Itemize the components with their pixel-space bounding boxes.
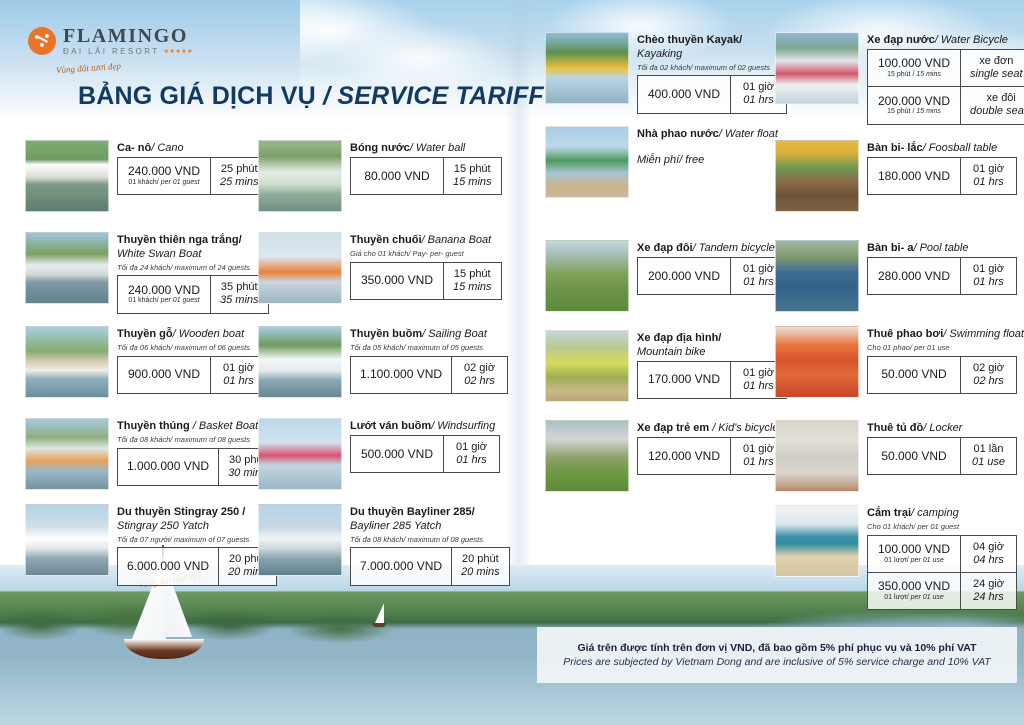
service-item-title-en: / Locker xyxy=(923,422,962,434)
service-item-stingray-250-yacht: Du thuyền Stingray 250 /Stingray 250 Yat… xyxy=(25,504,277,586)
price-per-unit-vn: 15 phút / xyxy=(887,108,914,115)
pool-table-photo xyxy=(775,240,859,312)
service-item-title-vn: Xe đạp nước xyxy=(867,34,935,46)
service-item-title-en: / Sailing Boat xyxy=(422,328,487,340)
service-item-body: Du thuyền Bayliner 285/Bayliner 285 Yatc… xyxy=(350,504,510,586)
price-table: 200.000 VND01 giờ01 hrs xyxy=(637,257,787,295)
price-per-unit-en: 15 mins xyxy=(916,71,941,78)
service-item-title-en: Bayliner 285 Yatch xyxy=(350,520,441,532)
price-per-unit: 01 khách/ per 01 guest xyxy=(127,297,201,306)
price-duration-en: 01 use xyxy=(970,456,1007,469)
service-item-body: Thuyền gỗ/ Wooden boatTối đa 06 khách/ m… xyxy=(117,326,267,394)
price-row: 100.000 VND01 lượt/ per 01 use04 giờ04 h… xyxy=(868,536,1016,572)
service-item-body: Thuyền thiên nga trắng/White Swan BoatTố… xyxy=(117,232,269,314)
service-item-title-vn: Thuê tủ đồ xyxy=(867,422,923,434)
service-item-title-en: / Cano xyxy=(151,142,183,154)
price-per-unit: 01 lượt/ per 01 use xyxy=(877,557,951,566)
windsurfing-photo xyxy=(258,418,342,490)
price-duration-vn: 15 phút xyxy=(453,163,492,176)
price-row: 7.000.000 VND20 phút20 mins xyxy=(351,548,509,584)
service-item-title-en: / Basket Boat xyxy=(190,420,258,432)
banana-boat-photo xyxy=(258,232,342,304)
service-item-title-vn: Chèo thuyền Kayak/ xyxy=(637,34,742,46)
price-duration-en: 35 mins xyxy=(220,294,259,307)
price-amount-cell: 1.100.000 VND xyxy=(351,357,451,393)
service-item-title-en: / Wooden boat xyxy=(173,328,245,340)
service-item-foosball-table: Bàn bi- lắc/ Foosball table180.000 VND01… xyxy=(775,140,1017,212)
service-item-title: Chèo thuyền Kayak/Kayaking xyxy=(637,34,787,62)
service-item-camping: Cắm trại/ campingCho 01 khách/ per 01 gu… xyxy=(775,505,1017,610)
service-item-title-vn: Lướt ván buồm xyxy=(350,420,431,432)
service-item-title-vn: Thuyền gỗ xyxy=(117,328,173,340)
service-item-note: Giá cho 01 khách/ Pay- per- guest xyxy=(350,249,502,259)
price-table: 180.000 VND01 giờ01 hrs xyxy=(867,157,1017,195)
service-item-body: Xe đạp trẻ em / Kid's bicycle120.000 VND… xyxy=(637,420,787,475)
price-table: 100.000 VND15 phút / 15 minsxe đơnsingle… xyxy=(867,49,1024,125)
price-amount: 50.000 VND xyxy=(877,367,951,381)
price-amount-cell: 500.000 VND xyxy=(351,436,443,472)
service-item-title-en: / Windsurfing xyxy=(431,420,495,432)
price-table: 1.100.000 VND02 giờ02 hrs xyxy=(350,356,508,394)
price-table: 500.000 VND01 giờ01 hrs xyxy=(350,435,500,473)
price-duration-vn: 20 phút xyxy=(461,553,500,566)
service-item-title: Xe đạp trẻ em / Kid's bicycle xyxy=(637,422,787,436)
price-row: 120.000 VND01 giờ01 hrs xyxy=(638,438,786,474)
service-item-title-vn: Xe đạp địa hình/ xyxy=(637,332,721,344)
price-amount-cell: 6.000.000 VND xyxy=(118,548,218,584)
service-item-title-en: / Banana Boat xyxy=(422,234,492,246)
service-item-body: Du thuyền Stingray 250 /Stingray 250 Yat… xyxy=(117,504,277,586)
swan-boat-photo xyxy=(25,232,109,304)
service-item-title-en: / Water ball xyxy=(410,142,465,154)
price-row: 200.000 VND01 giờ01 hrs xyxy=(638,258,786,294)
price-row: 350.000 VND01 lượt/ per 01 use24 giờ24 h… xyxy=(868,572,1016,609)
price-row: 170.000 VND01 giờ01 hrs xyxy=(638,362,786,398)
price-per-unit-en: per 01 guest xyxy=(161,297,200,304)
service-item-title: Xe đạp đôi/ Tandem bicycle xyxy=(637,242,787,256)
service-item-note: Tối đa 07 người/ maximum of 07 guests xyxy=(117,535,277,545)
price-duration-cell: 15 phút15 mins xyxy=(443,158,501,194)
price-table: 1.000.000 VND30 phút30 mins xyxy=(117,448,277,486)
price-duration-vn: 01 lần xyxy=(970,443,1007,456)
price-duration-en: 01 hrs xyxy=(970,276,1007,289)
price-table: 350.000 VND15 phút15 mins xyxy=(350,262,502,300)
price-amount: 200.000 VND xyxy=(647,269,721,283)
service-item-title-vn: Bóng nước xyxy=(350,142,410,154)
service-item-note: Cho 01 phao/ per 01 use xyxy=(867,343,1024,353)
price-duration-en: 01 hrs xyxy=(740,94,777,107)
price-duration-en: 02 hrs xyxy=(461,375,498,388)
service-item-title-vn: Cắm trại xyxy=(867,507,911,519)
price-table: 7.000.000 VND20 phút20 mins xyxy=(350,547,510,585)
price-per-unit-en: per 01 guest xyxy=(161,179,200,186)
service-item-body: Xe đạp nước/ Water Bicycle100.000 VND15 … xyxy=(867,32,1024,125)
price-amount-cell: 100.000 VND01 lượt/ per 01 use xyxy=(868,536,960,572)
price-row: 240.000 VND01 khách/ per 01 guest25 phút… xyxy=(118,158,268,194)
price-duration-en: 01 hrs xyxy=(740,456,777,469)
price-duration-en: double seats xyxy=(970,105,1024,118)
price-amount: 500.000 VND xyxy=(360,447,434,461)
water-bicycle-photo xyxy=(775,32,859,104)
price-duration-vn: 01 giờ xyxy=(970,263,1007,276)
service-item-water-ball: Bóng nước/ Water ball80.000 VND15 phút15… xyxy=(258,140,502,212)
price-amount: 100.000 VND xyxy=(877,542,951,556)
distant-hull xyxy=(372,623,386,627)
price-row: 1.000.000 VND30 phút30 mins xyxy=(118,449,276,485)
price-per-unit: 15 phút / 15 mins xyxy=(877,108,951,117)
price-disclaimer: Giá trên được tính trên đơn vị VND, đã b… xyxy=(537,627,1017,683)
price-duration-en: 15 mins xyxy=(453,176,492,189)
price-amount-cell: 240.000 VND01 khách/ per 01 guest xyxy=(118,158,210,194)
price-amount-cell: 7.000.000 VND xyxy=(351,548,451,584)
service-item-body: Bóng nước/ Water ball80.000 VND15 phút15… xyxy=(350,140,502,195)
price-amount: 1.000.000 VND xyxy=(127,459,209,473)
price-duration-vn: 04 giờ xyxy=(970,541,1007,554)
service-item-title: Bàn bi- a/ Pool table xyxy=(867,242,1017,256)
service-item-basket-boat: Thuyền thúng / Basket BoatTối đa 08 khác… xyxy=(25,418,277,490)
camping-photo xyxy=(775,505,859,577)
price-amount-cell: 400.000 VND xyxy=(638,76,730,112)
brand-subtitle: ĐẠI LẢI RESORT xyxy=(63,48,160,56)
price-amount-cell: 80.000 VND xyxy=(351,158,443,194)
price-duration-vn: 15 phút xyxy=(453,268,492,281)
price-duration-cell: 04 giờ04 hrs xyxy=(960,536,1016,572)
price-per-unit-en: 15 mins xyxy=(916,108,941,115)
price-table: 80.000 VND15 phút15 mins xyxy=(350,157,502,195)
service-item-title-en: / camping xyxy=(911,507,959,519)
service-item-title: Du thuyền Stingray 250 /Stingray 250 Yat… xyxy=(117,506,267,534)
service-item-title-en: White Swan Boat xyxy=(117,248,201,260)
service-item-title-en: / Swimming float xyxy=(943,328,1024,340)
service-item-title-en: / Tandem bicycle xyxy=(693,242,775,254)
price-amount: 170.000 VND xyxy=(647,372,721,386)
sailboat-distant-illustration xyxy=(372,603,386,629)
price-duration-cell: 24 giờ24 hrs xyxy=(960,573,1016,609)
service-item-body: Nhà phao nước/ Water floatMiễn phí/ free xyxy=(637,126,778,166)
service-item-title-vn: Xe đạp trẻ em xyxy=(637,422,709,434)
speedboat-photo xyxy=(25,140,109,212)
service-item-title: Thuyền gỗ/ Wooden boat xyxy=(117,328,267,342)
service-item-title: Cắm trại/ camping xyxy=(867,507,1017,521)
service-item-free-label: Miễn phí/ free xyxy=(637,154,778,166)
price-amount-cell: 350.000 VND01 lượt/ per 01 use xyxy=(868,573,960,609)
price-duration-vn: 01 giờ xyxy=(220,362,257,375)
service-item-kids-bicycle: Xe đạp trẻ em / Kid's bicycle120.000 VND… xyxy=(545,420,787,492)
wooden-boat-photo xyxy=(25,326,109,398)
sailboat-hull xyxy=(124,639,204,659)
price-row: 280.000 VND01 giờ01 hrs xyxy=(868,258,1016,294)
foosball-table-photo xyxy=(775,140,859,212)
price-duration-en: 20 mins xyxy=(461,566,500,579)
service-item-body: Thuê phao bơi/ Swimming floatCho 01 phao… xyxy=(867,326,1024,394)
service-item-mountain-bike: Xe đạp địa hình/Mountain bike170.000 VND… xyxy=(545,330,787,402)
service-item-title-vn: Xe đạp đôi xyxy=(637,242,693,254)
price-amount-cell: 180.000 VND xyxy=(868,158,960,194)
price-duration-vn: 35 phút xyxy=(220,281,259,294)
service-item-body: Thuê tủ đồ/ Locker50.000 VND01 lần01 use xyxy=(867,420,1017,475)
price-row: 50.000 VND02 giờ02 hrs xyxy=(868,357,1016,393)
service-item-title-en: / Pool table xyxy=(913,242,968,254)
service-item-locker: Thuê tủ đồ/ Locker50.000 VND01 lần01 use xyxy=(775,420,1017,492)
price-duration-vn: 01 giờ xyxy=(740,81,777,94)
price-duration-en: single seat xyxy=(970,68,1023,81)
service-item-water-float: Nhà phao nước/ Water floatMiễn phí/ free xyxy=(545,126,778,198)
price-duration-cell: 01 lần01 use xyxy=(960,438,1016,474)
price-per-unit-vn: 01 lượt/ xyxy=(884,557,908,564)
service-item-title: Nhà phao nước/ Water float xyxy=(637,128,778,142)
swimming-float-photo xyxy=(775,326,859,398)
mountain-bike-photo xyxy=(545,330,629,402)
service-item-title-vn: Thuyền chuối xyxy=(350,234,422,246)
price-duration-en: 01 hrs xyxy=(740,380,777,393)
service-item-body: Chèo thuyền Kayak/KayakingTối đa 02 khác… xyxy=(637,32,787,114)
price-row: 50.000 VND01 lần01 use xyxy=(868,438,1016,474)
price-amount-cell: 120.000 VND xyxy=(638,438,730,474)
price-table: 120.000 VND01 giờ01 hrs xyxy=(637,437,787,475)
service-item-water-bicycle: Xe đạp nước/ Water Bicycle100.000 VND15 … xyxy=(775,32,1024,125)
price-amount-cell: 100.000 VND15 phút / 15 mins xyxy=(868,50,960,86)
price-table: 50.000 VND02 giờ02 hrs xyxy=(867,356,1017,394)
price-table: 240.000 VND01 khách/ per 01 guest25 phút… xyxy=(117,157,269,195)
price-amount: 80.000 VND xyxy=(360,169,434,183)
price-amount-cell: 50.000 VND xyxy=(868,357,960,393)
price-row: 500.000 VND01 giờ01 hrs xyxy=(351,436,499,472)
price-amount-cell: 280.000 VND xyxy=(868,258,960,294)
five-stars-icon: ★★★★★ xyxy=(164,49,193,55)
service-item-note: Cho 01 khách/ per 01 guest xyxy=(867,522,1017,532)
sailing-boat-photo xyxy=(258,326,342,398)
service-item-sailing-boat: Thuyền buồm/ Sailing BoatTối đa 05 khách… xyxy=(258,326,508,398)
price-row: 1.100.000 VND02 giờ02 hrs xyxy=(351,357,507,393)
brand-logo: FLAMINGO ĐẠI LẢI RESORT ★★★★★ xyxy=(28,26,193,56)
price-amount: 50.000 VND xyxy=(877,449,951,463)
price-amount: 7.000.000 VND xyxy=(360,559,442,573)
price-per-unit: 01 lượt/ per 01 use xyxy=(877,594,951,603)
service-item-banana-boat: Thuyền chuối/ Banana BoatGiá cho 01 khác… xyxy=(258,232,502,304)
price-per-unit: 01 khách/ per 01 guest xyxy=(127,179,201,188)
service-item-title-en: / Water Bicycle xyxy=(935,34,1008,46)
service-item-body: Ca- nô/ Cano240.000 VND01 khách/ per 01 … xyxy=(117,140,269,195)
price-row: 6.000.000 VND20 phút20 mins xyxy=(118,548,276,584)
price-amount-cell: 900.000 VND xyxy=(118,357,210,393)
price-duration-vn: 01 giờ xyxy=(740,263,777,276)
service-item-body: Xe đạp địa hình/Mountain bike170.000 VND… xyxy=(637,330,787,399)
price-duration-cell: xe đôidouble seats xyxy=(960,87,1024,123)
price-table: 240.000 VND01 khách/ per 01 guest35 phút… xyxy=(117,275,269,313)
price-duration-cell: 15 phút15 mins xyxy=(443,263,501,299)
service-item-title-vn: Du thuyền Bayliner 285/ xyxy=(350,506,475,518)
price-per-unit-vn: 01 khách/ xyxy=(128,297,158,304)
price-duration-en: 25 mins xyxy=(220,176,259,189)
price-amount: 400.000 VND xyxy=(647,87,721,101)
price-duration-en: 01 hrs xyxy=(220,375,257,388)
service-item-title-vn: Thuyền thúng xyxy=(117,420,190,432)
service-item-title: Thuyền chuối/ Banana Boat xyxy=(350,234,502,248)
price-duration-en: 24 hrs xyxy=(970,591,1007,604)
service-item-title: Bàn bi- lắc/ Foosball table xyxy=(867,142,1017,156)
service-item-body: Bàn bi- a/ Pool table280.000 VND01 giờ01… xyxy=(867,240,1017,295)
service-item-title: Thuyền thúng / Basket Boat xyxy=(117,420,277,434)
service-item-note: Tối đa 06 khách/ maximum of 06 guests xyxy=(117,343,267,353)
price-duration-cell: 02 giờ02 hrs xyxy=(960,357,1016,393)
service-item-title: Ca- nô/ Cano xyxy=(117,142,269,156)
basket-boat-photo xyxy=(25,418,109,490)
price-duration-en: 02 hrs xyxy=(970,375,1007,388)
price-row: 400.000 VND01 giờ01 hrs xyxy=(638,76,786,112)
service-item-cano: Ca- nô/ Cano240.000 VND01 khách/ per 01 … xyxy=(25,140,269,212)
price-amount-cell: 240.000 VND01 khách/ per 01 guest xyxy=(118,276,210,312)
service-item-title: Lướt ván buồm/ Windsurfing xyxy=(350,420,500,434)
service-item-title: Thuê tủ đồ/ Locker xyxy=(867,422,1017,436)
price-amount: 350.000 VND xyxy=(360,273,434,287)
service-item-title: Thuê phao bơi/ Swimming float xyxy=(867,328,1024,342)
price-duration-vn: 02 giờ xyxy=(970,362,1007,375)
price-duration-en: 01 hrs xyxy=(740,276,777,289)
service-item-title-en: / Foosball table xyxy=(923,142,998,154)
service-item-title-vn: Bàn bi- lắc xyxy=(867,142,923,154)
service-item-note: Tối đa 02 khách/ maximum of 02 guests xyxy=(637,63,787,73)
price-amount: 6.000.000 VND xyxy=(127,559,209,573)
disclaimer-vn: Giá trên được tính trên đơn vị VND, đã b… xyxy=(577,642,976,654)
price-amount: 900.000 VND xyxy=(127,367,201,381)
price-table: 100.000 VND01 lượt/ per 01 use04 giờ04 h… xyxy=(867,535,1017,611)
price-per-unit-en: per 01 use xyxy=(911,594,944,601)
price-duration-cell: 02 giờ02 hrs xyxy=(451,357,507,393)
distant-sail xyxy=(375,603,384,623)
price-duration-cell: xe đơnsingle seat xyxy=(960,50,1024,86)
price-duration-cell: 20 phút20 mins xyxy=(451,548,509,584)
yacht-photo xyxy=(25,504,109,576)
water-ball-photo xyxy=(258,140,342,212)
price-duration-vn: xe đơn xyxy=(970,55,1023,68)
service-item-bayliner-285-yacht: Du thuyền Bayliner 285/Bayliner 285 Yatc… xyxy=(258,504,510,586)
service-item-note: Tối đa 08 khách/ maximum of 08 guests xyxy=(350,535,510,545)
price-amount-cell: 170.000 VND xyxy=(638,362,730,398)
price-per-unit: 15 phút / 15 mins xyxy=(877,71,951,80)
page-title: BẢNG GIÁ DỊCH VỤ / SERVICE TARIFF xyxy=(78,82,544,111)
service-item-body: Thuyền buồm/ Sailing BoatTối đa 05 khách… xyxy=(350,326,508,394)
service-item-body: Xe đạp đôi/ Tandem bicycle200.000 VND01 … xyxy=(637,240,787,295)
page-title-vn: BẢNG GIÁ DỊCH VỤ xyxy=(78,82,316,110)
service-item-wooden-boat: Thuyền gỗ/ Wooden boatTối đa 06 khách/ m… xyxy=(25,326,267,398)
service-item-kayaking: Chèo thuyền Kayak/KayakingTối đa 02 khác… xyxy=(545,32,787,114)
service-item-title: Xe đạp địa hình/Mountain bike xyxy=(637,332,787,360)
price-amount: 200.000 VND xyxy=(877,94,951,108)
price-duration-vn: 01 giờ xyxy=(970,163,1007,176)
kayak-photo xyxy=(545,32,629,104)
service-item-windsurfing: Lướt ván buồm/ Windsurfing500.000 VND01 … xyxy=(258,418,500,490)
price-duration-en: 15 mins xyxy=(453,281,492,294)
water-float-photo xyxy=(545,126,629,198)
service-item-title-vn: Thuê phao bơi xyxy=(867,328,943,340)
price-row: 80.000 VND15 phút15 mins xyxy=(351,158,501,194)
price-amount-cell: 350.000 VND xyxy=(351,263,443,299)
price-duration-en: 01 hrs xyxy=(970,176,1007,189)
price-table: 170.000 VND01 giờ01 hrs xyxy=(637,361,787,399)
service-item-tandem-bicycle: Xe đạp đôi/ Tandem bicycle200.000 VND01 … xyxy=(545,240,787,312)
service-item-body: Cắm trại/ campingCho 01 khách/ per 01 gu… xyxy=(867,505,1017,610)
service-item-note: Tối đa 05 khách/ maximum of 05 guests xyxy=(350,343,508,353)
price-amount-cell: 200.000 VND15 phút / 15 mins xyxy=(868,87,960,123)
price-row: 900.000 VND01 giờ01 hrs xyxy=(118,357,266,393)
price-amount: 350.000 VND xyxy=(877,579,951,593)
price-per-unit-en: per 01 use xyxy=(911,557,944,564)
service-item-pool-table: Bàn bi- a/ Pool table280.000 VND01 giờ01… xyxy=(775,240,1017,312)
price-table: 6.000.000 VND20 phút20 mins xyxy=(117,547,277,585)
service-item-title-en: Stingray 250 Yatch xyxy=(117,520,209,532)
price-row: 240.000 VND01 khách/ per 01 guest35 phút… xyxy=(118,276,268,312)
price-duration-en: 04 hrs xyxy=(970,554,1007,567)
brand-subtitle-row: ĐẠI LẢI RESORT ★★★★★ xyxy=(63,48,193,56)
service-item-title-en: / Kid's bicycle xyxy=(709,422,778,434)
page-title-en: / SERVICE TARIFF xyxy=(323,82,544,110)
service-item-title: Xe đạp nước/ Water Bicycle xyxy=(867,34,1024,48)
service-item-title-en: Kayaking xyxy=(637,48,682,60)
service-item-white-swan-boat: Thuyền thiên nga trắng/White Swan BoatTố… xyxy=(25,232,269,314)
price-amount: 1.100.000 VND xyxy=(360,367,442,381)
price-duration-vn: 24 giờ xyxy=(970,578,1007,591)
price-amount-cell: 1.000.000 VND xyxy=(118,449,218,485)
price-amount: 180.000 VND xyxy=(877,169,951,183)
price-duration-vn: xe đôi xyxy=(970,92,1024,105)
price-table: 280.000 VND01 giờ01 hrs xyxy=(867,257,1017,295)
service-item-title-vn: Ca- nô xyxy=(117,142,151,154)
price-amount: 120.000 VND xyxy=(647,449,721,463)
price-duration-vn: 25 phút xyxy=(220,163,259,176)
price-table: 900.000 VND01 giờ01 hrs xyxy=(117,356,267,394)
price-amount: 240.000 VND xyxy=(127,283,201,297)
price-amount-cell: 200.000 VND xyxy=(638,258,730,294)
service-item-title-en: Mountain bike xyxy=(637,346,706,358)
service-item-title-vn: Nhà phao nước xyxy=(637,128,719,140)
price-row: 180.000 VND01 giờ01 hrs xyxy=(868,158,1016,194)
service-item-note: Tối đa 08 khách/ maximum of 08 guests xyxy=(117,435,277,445)
price-duration-cell: 01 giờ01 hrs xyxy=(960,158,1016,194)
price-duration-cell: 01 giờ01 hrs xyxy=(960,258,1016,294)
price-amount: 100.000 VND xyxy=(877,56,951,70)
service-item-note: Tối đa 24 khách/ maximum of 24 guests xyxy=(117,263,269,273)
price-table: 400.000 VND01 giờ01 hrs xyxy=(637,75,787,113)
price-amount-cell: 50.000 VND xyxy=(868,438,960,474)
price-row: 200.000 VND15 phút / 15 minsxe đôidouble… xyxy=(868,86,1024,123)
service-item-title-en: / Water float xyxy=(719,128,778,140)
disclaimer-en: Prices are subjected by Vietnam Dong and… xyxy=(563,656,990,668)
price-row: 100.000 VND15 phút / 15 minsxe đơnsingle… xyxy=(868,50,1024,86)
price-table: 50.000 VND01 lần01 use xyxy=(867,437,1017,475)
kids-bicycle-photo xyxy=(545,420,629,492)
price-per-unit-vn: 15 phút / xyxy=(887,71,914,78)
price-duration-vn: 01 giờ xyxy=(740,367,777,380)
tariff-page: Vùng đất tươi đẹp FLAMINGO ĐẠI LẢI RESOR… xyxy=(0,0,1024,725)
service-item-title-vn: Du thuyền Stingray 250 / xyxy=(117,506,245,518)
service-item-title: Thuyền thiên nga trắng/White Swan Boat xyxy=(117,234,267,262)
price-per-unit-vn: 01 lượt/ xyxy=(884,594,908,601)
price-row: 350.000 VND15 phút15 mins xyxy=(351,263,501,299)
flamingo-badge-icon xyxy=(28,27,56,55)
locker-photo xyxy=(775,420,859,492)
service-item-title-vn: Bàn bi- a xyxy=(867,242,913,254)
service-item-body: Bàn bi- lắc/ Foosball table180.000 VND01… xyxy=(867,140,1017,195)
price-amount: 280.000 VND xyxy=(877,269,951,283)
service-item-title: Bóng nước/ Water ball xyxy=(350,142,502,156)
bayliner-photo xyxy=(258,504,342,576)
price-duration-en: 01 hrs xyxy=(453,454,490,467)
price-amount: 240.000 VND xyxy=(127,164,201,178)
brand-name: FLAMINGO xyxy=(63,26,193,46)
price-duration-vn: 02 giờ xyxy=(461,362,498,375)
brand-logo-text: FLAMINGO ĐẠI LẢI RESORT ★★★★★ xyxy=(63,26,193,56)
service-item-swimming-float: Thuê phao bơi/ Swimming floatCho 01 phao… xyxy=(775,326,1024,398)
